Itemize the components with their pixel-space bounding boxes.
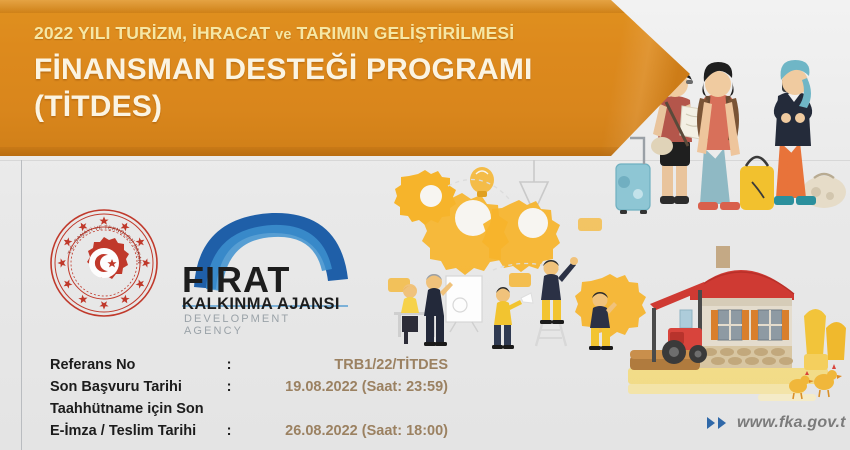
- table-row: Referans No : TRB1/22/TİTDES: [50, 355, 470, 377]
- table-row: E-İmza / Teslim Tarihi : 26.08.2022 (Saa…: [50, 421, 470, 443]
- website-url-text: www.fka.gov.t: [737, 414, 846, 432]
- detail-label: Taahhütname için Son: [50, 399, 218, 421]
- detail-label: E-İmza / Teslim Tarihi: [50, 421, 218, 443]
- detail-value: 26.08.2022 (Saat: 18:00): [240, 421, 470, 443]
- detail-value: 19.08.2022 (Saat: 23:59): [240, 377, 470, 399]
- program-details-table: Referans No : TRB1/22/TİTDES Son Başvuru…: [50, 355, 470, 443]
- detail-value: TRB1/22/TİTDES: [240, 355, 470, 377]
- eyebrow-part1: 2022 YILI TURİZM, İHRACAT: [34, 23, 270, 43]
- website-link[interactable]: www.fka.gov.t: [706, 414, 846, 432]
- firat-agency-logo: FIRAT KALKINMA AJANSI DEVELOPMENT AGENCY: [176, 203, 352, 323]
- agency-subtitle: KALKINMA AJANSI: [182, 295, 340, 314]
- detail-separator: :: [218, 355, 240, 377]
- left-vertical-rule: [21, 160, 22, 450]
- farm-illustration: [628, 238, 850, 414]
- poster-root: 2022 YILI TURİZM, İHRACAT ve TARIMIN GEL…: [0, 0, 850, 450]
- banner-top-sheen: [0, 0, 690, 13]
- eyebrow-lower: ve: [275, 27, 291, 43]
- ministry-seal-logo: T.C. SANAYİ VE TEKNOLOJİ BAKANLIĞI: [48, 207, 160, 319]
- detail-separator: :: [218, 421, 240, 443]
- eyebrow-part2: TARIMIN GELİŞTİRİLMESİ: [296, 23, 514, 43]
- agency-subtitle-en: DEVELOPMENT AGENCY: [184, 313, 352, 337]
- header-eyebrow: 2022 YILI TURİZM, İHRACAT ve TARIMIN GEL…: [34, 24, 634, 44]
- banner-bottom-sheen: [0, 147, 690, 156]
- page-title-line1: FİNANSMAN DESTEĞİ PROGRAMI: [34, 52, 634, 89]
- table-row: Son Başvuru Tarihi : 19.08.2022 (Saat: 2…: [50, 377, 470, 399]
- logo-group: T.C. SANAYİ VE TEKNOLOJİ BAKANLIĞI FIRAT…: [48, 203, 348, 323]
- header-banner: 2022 YILI TURİZM, İHRACAT ve TARIMIN GEL…: [0, 0, 690, 156]
- table-row: Taahhütname için Son: [50, 399, 470, 421]
- detail-separator: :: [218, 377, 240, 399]
- detail-label: Son Başvuru Tarihi: [50, 377, 218, 399]
- double-chevron-right-icon: [706, 415, 732, 431]
- page-title-line2: (TİTDES): [34, 89, 634, 126]
- detail-label: Referans No: [50, 355, 218, 377]
- header-text-block: 2022 YILI TURİZM, İHRACAT ve TARIMIN GEL…: [34, 24, 634, 125]
